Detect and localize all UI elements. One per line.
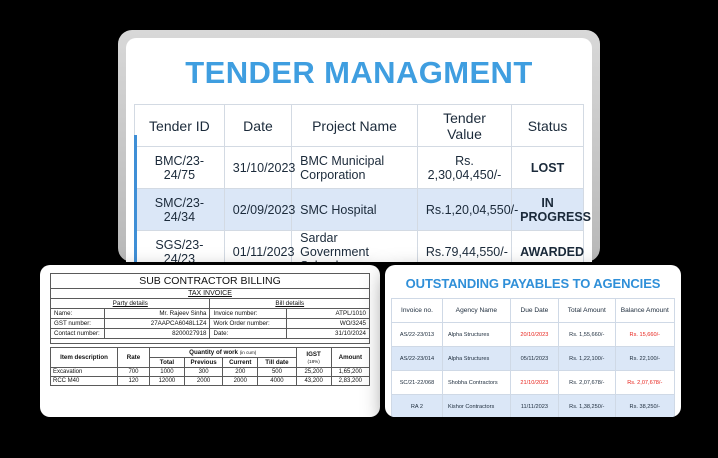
bill-value-invoice: ATPL/1010 xyxy=(287,309,370,319)
table-row[interactable]: SC/21-22/068 Shobha Contractors 21/10/20… xyxy=(392,371,675,395)
table-row: Name: Mr. Rajeev Sinha Invoice number: A… xyxy=(51,309,370,319)
tender-col-project: Project Name xyxy=(292,105,418,147)
quantity-group-label: Quantity of work xyxy=(189,349,238,356)
item-qty-tilldate: 4000 xyxy=(258,377,296,386)
item-qty-current: 2000 xyxy=(223,377,258,386)
billing-items-table: Item description Rate Quantity of work (… xyxy=(50,347,370,386)
billing-title-row: SUB CONTRACTOR BILLING xyxy=(51,274,370,289)
payable-due-date: 21/10/2023 xyxy=(510,371,558,395)
payables-header-row: Invoice no. Agency Name Due Date Total A… xyxy=(392,299,675,323)
tender-header-row: Tender ID Date Project Name Tender Value… xyxy=(135,105,584,147)
tender-project: BMC Municipal Corporation xyxy=(292,147,418,189)
billing-subtitle-row: TAX INVOICE xyxy=(51,289,370,299)
bill-label-workorder: Work Order number: xyxy=(210,319,287,329)
tender-value: Rs.1,20,04,550/- xyxy=(417,189,511,231)
item-qty-tilldate: 500 xyxy=(258,368,296,377)
party-value-contact: 8200027918 xyxy=(105,329,210,339)
party-value-name: Mr. Rajeev Sinha xyxy=(105,309,210,319)
bill-details-heading: Bill details xyxy=(210,299,370,309)
tender-table: Tender ID Date Project Name Tender Value… xyxy=(134,104,584,262)
col-rate: Rate xyxy=(118,348,150,368)
item-description: Excavation xyxy=(51,368,118,377)
tender-value: Rs. 2,30,04,450/- xyxy=(417,147,511,189)
col-qty-previous: Previous xyxy=(184,358,222,368)
table-row[interactable]: SMC/23-24/34 02/09/2023 SMC Hospital Rs.… xyxy=(135,189,584,231)
party-details-heading: Party details xyxy=(51,299,210,309)
col-igst: IGST (18%) xyxy=(296,348,331,368)
tender-id: SMC/23-24/34 xyxy=(135,189,225,231)
screenshot-stage: TENDER MANAGMENT Tender ID Date Project … xyxy=(0,0,718,458)
tender-project: SMC Hospital xyxy=(292,189,418,231)
payables-col-agency: Agency Name xyxy=(442,299,510,323)
item-igst: 25,200 xyxy=(296,368,331,377)
item-amount: 1,65,200 xyxy=(331,368,369,377)
tender-col-status: Status xyxy=(512,105,584,147)
table-row[interactable]: RA 2 Kishor Contractors 11/11/2023 Rs. 1… xyxy=(392,395,675,418)
payable-balance: Rs. 38,250/- xyxy=(615,395,674,418)
billing-title: SUB CONTRACTOR BILLING xyxy=(51,274,370,289)
payable-total: Rs. 2,07,678/- xyxy=(558,371,615,395)
col-amount: Amount xyxy=(331,348,369,368)
igst-label: IGST xyxy=(306,351,320,358)
bill-value-date: 31/10/2024 xyxy=(287,329,370,339)
bill-label-invoice: Invoice number: xyxy=(210,309,287,319)
payables-col-invoice: Invoice no. xyxy=(392,299,443,323)
col-qty-total: Total xyxy=(149,358,184,368)
tender-management-card: TENDER MANAGMENT Tender ID Date Project … xyxy=(118,30,600,262)
tender-id: SGS/23-24/23 xyxy=(135,231,225,263)
tender-col-value: Tender Value xyxy=(417,105,511,147)
col-item-description: Item description xyxy=(51,348,118,368)
tender-card-inner: TENDER MANAGMENT Tender ID Date Project … xyxy=(126,38,592,262)
tender-project: Sardar Government School xyxy=(292,231,418,263)
table-row[interactable]: AS/22-23/013 Alpha Structures 20/10/2023… xyxy=(392,323,675,347)
billing-subtitle: TAX INVOICE xyxy=(51,289,370,299)
payable-due-date: 20/10/2023 xyxy=(510,323,558,347)
item-qty-previous: 300 xyxy=(184,368,222,377)
item-qty-total: 1000 xyxy=(149,368,184,377)
tender-title: TENDER MANAGMENT xyxy=(126,38,592,104)
status-badge: IN PROGRESS xyxy=(512,189,584,231)
payable-balance: Rs. 22,100/- xyxy=(615,347,674,371)
table-row: Contact number: 8200027918 Date: 31/10/2… xyxy=(51,329,370,339)
payable-invoice: AS/22-23/014 xyxy=(392,347,443,371)
table-row: RCC M40 120 12000 2000 2000 4000 43,200 … xyxy=(51,377,370,386)
payables-table: Invoice no. Agency Name Due Date Total A… xyxy=(391,298,675,417)
item-qty-total: 12000 xyxy=(149,377,184,386)
bill-label-date: Date: xyxy=(210,329,287,339)
col-qty-tilldate: Till date xyxy=(258,358,296,368)
outstanding-payables-card: OUTSTANDING PAYABLES TO AGENCIES Invoice… xyxy=(385,265,681,417)
tender-value: Rs.79,44,550/- xyxy=(417,231,511,263)
item-igst: 43,200 xyxy=(296,377,331,386)
payables-title: OUTSTANDING PAYABLES TO AGENCIES xyxy=(391,272,675,298)
item-qty-previous: 2000 xyxy=(184,377,222,386)
payable-agency: Kishor Contractors xyxy=(442,395,510,418)
table-row[interactable]: BMC/23-24/75 31/10/2023 BMC Municipal Co… xyxy=(135,147,584,189)
sub-contractor-billing-card: SUB CONTRACTOR BILLING TAX INVOICE Party… xyxy=(40,265,380,417)
payable-due-date: 05/11/2023 xyxy=(510,347,558,371)
payables-col-total: Total Amount xyxy=(558,299,615,323)
tender-col-id: Tender ID xyxy=(135,105,225,147)
items-header-row-1: Item description Rate Quantity of work (… xyxy=(51,348,370,358)
payables-col-balance: Balance Amount xyxy=(615,299,674,323)
tender-id: BMC/23-24/75 xyxy=(135,147,225,189)
payable-agency: Alpha Structures xyxy=(442,323,510,347)
payable-total: Rs. 1,55,660/- xyxy=(558,323,615,347)
table-row[interactable]: AS/22-23/014 Alpha Structures 05/11/2023… xyxy=(392,347,675,371)
payable-agency: Shobha Contractors xyxy=(442,371,510,395)
payable-agency: Alpha Structures xyxy=(442,347,510,371)
status-badge: LOST xyxy=(512,147,584,189)
tender-col-date: Date xyxy=(224,105,291,147)
party-label-contact: Contact number: xyxy=(51,329,105,339)
item-qty-current: 200 xyxy=(223,368,258,377)
tender-date: 31/10/2023 xyxy=(224,147,291,189)
party-label-name: Name: xyxy=(51,309,105,319)
col-quantity-group: Quantity of work (in cum) xyxy=(149,348,296,358)
payable-total: Rs. 1,38,250/- xyxy=(558,395,615,418)
table-row: GST number: 27AAPCA6048L1Z4 Work Order n… xyxy=(51,319,370,329)
igst-rate: (18%) xyxy=(307,359,319,364)
payable-invoice: AS/22-23/013 xyxy=(392,323,443,347)
status-badge: AWARDED xyxy=(512,231,584,263)
payable-due-date: 11/11/2023 xyxy=(510,395,558,418)
table-row: Excavation 700 1000 300 200 500 25,200 1… xyxy=(51,368,370,377)
party-label-gst: GST number: xyxy=(51,319,105,329)
item-rate: 700 xyxy=(118,368,150,377)
payables-col-duedate: Due Date xyxy=(510,299,558,323)
payable-balance: Rs. 15,660/- xyxy=(615,323,674,347)
billing-spacer-cell xyxy=(51,339,370,344)
payable-invoice: RA 2 xyxy=(392,395,443,418)
billing-header-table: SUB CONTRACTOR BILLING TAX INVOICE Party… xyxy=(50,273,370,344)
item-rate: 120 xyxy=(118,377,150,386)
payable-total: Rs. 1,22,100/- xyxy=(558,347,615,371)
table-row[interactable]: SGS/23-24/23 01/11/2023 Sardar Governmen… xyxy=(135,231,584,263)
party-value-gst: 27AAPCA6048L1Z4 xyxy=(105,319,210,329)
col-qty-current: Current xyxy=(223,358,258,368)
tender-date: 02/09/2023 xyxy=(224,189,291,231)
item-amount: 2,83,200 xyxy=(331,377,369,386)
billing-spacer-row xyxy=(51,339,370,344)
payable-balance: Rs. 2,07,678/- xyxy=(615,371,674,395)
tender-date: 01/11/2023 xyxy=(224,231,291,263)
quantity-group-unit: (in cum) xyxy=(240,350,257,355)
item-description: RCC M40 xyxy=(51,377,118,386)
tender-accent-bar xyxy=(134,135,137,262)
billing-section-row: Party details Bill details xyxy=(51,299,370,309)
payable-invoice: SC/21-22/068 xyxy=(392,371,443,395)
bill-value-workorder: WO/3245 xyxy=(287,319,370,329)
